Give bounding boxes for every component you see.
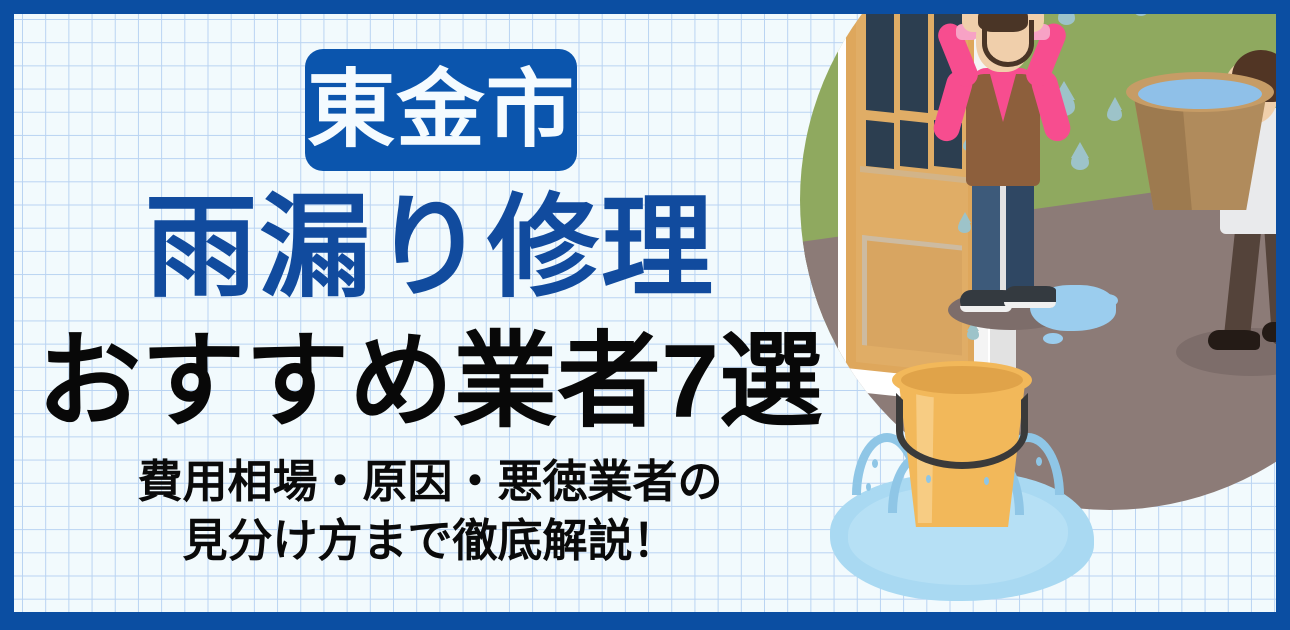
lead-line-1: 費用相場・原因・悪徳業者の xyxy=(0,452,860,511)
water-droplet xyxy=(1036,457,1042,466)
floor-puddle-splash xyxy=(1043,333,1063,344)
water-droplet xyxy=(872,459,878,468)
water-drop-icon xyxy=(958,220,971,233)
frame-border-bottom xyxy=(0,612,1290,630)
leaking-bucket-handle xyxy=(896,393,1028,469)
water-drop-icon xyxy=(1071,152,1089,170)
headline-line-2: おすすめ業者7選 xyxy=(0,326,860,438)
person-frustrated-leg-left xyxy=(972,170,1000,298)
water-droplet xyxy=(866,483,871,491)
person-frustrated-beard xyxy=(982,20,1034,67)
shoe-sole xyxy=(1004,302,1056,308)
lead-text: 費用相場・原因・悪徳業者の 見分け方まで徹底解説！ xyxy=(0,452,860,571)
door-glass-pane xyxy=(866,120,894,169)
banner-canvas: 東金市 雨漏り修理 おすすめ業者7選 費用相場・原因・悪徳業者の 見分け方まで徹… xyxy=(0,0,1290,630)
door-glass-pane xyxy=(866,10,894,113)
water-droplet xyxy=(984,477,989,485)
door-glass-pane xyxy=(900,10,928,113)
floor-puddle-splash xyxy=(1096,294,1118,307)
water-drop-icon xyxy=(1107,106,1122,121)
person-frustrated-leg-right xyxy=(1006,170,1034,298)
door-glass-pane xyxy=(900,120,928,169)
carried-bucket-water xyxy=(1138,79,1262,109)
frame-border-right xyxy=(1276,0,1290,630)
leaking-bucket-scene xyxy=(830,355,1110,615)
door-bottom-panel xyxy=(862,235,962,356)
person-carrier-shoe-left xyxy=(1208,330,1260,350)
frame-border-top xyxy=(0,0,1290,14)
water-droplet xyxy=(926,475,931,483)
water-drop-icon xyxy=(967,328,979,340)
city-badge: 東金市 xyxy=(305,49,577,171)
lead-line-2: 見分け方まで徹底解説！ xyxy=(0,511,860,570)
leaking-bucket-rim-inner xyxy=(901,366,1023,394)
headline-line-1: 雨漏り修理 xyxy=(0,188,860,309)
city-badge-label: 東金市 xyxy=(307,68,575,153)
shoe-sole xyxy=(960,306,1012,312)
